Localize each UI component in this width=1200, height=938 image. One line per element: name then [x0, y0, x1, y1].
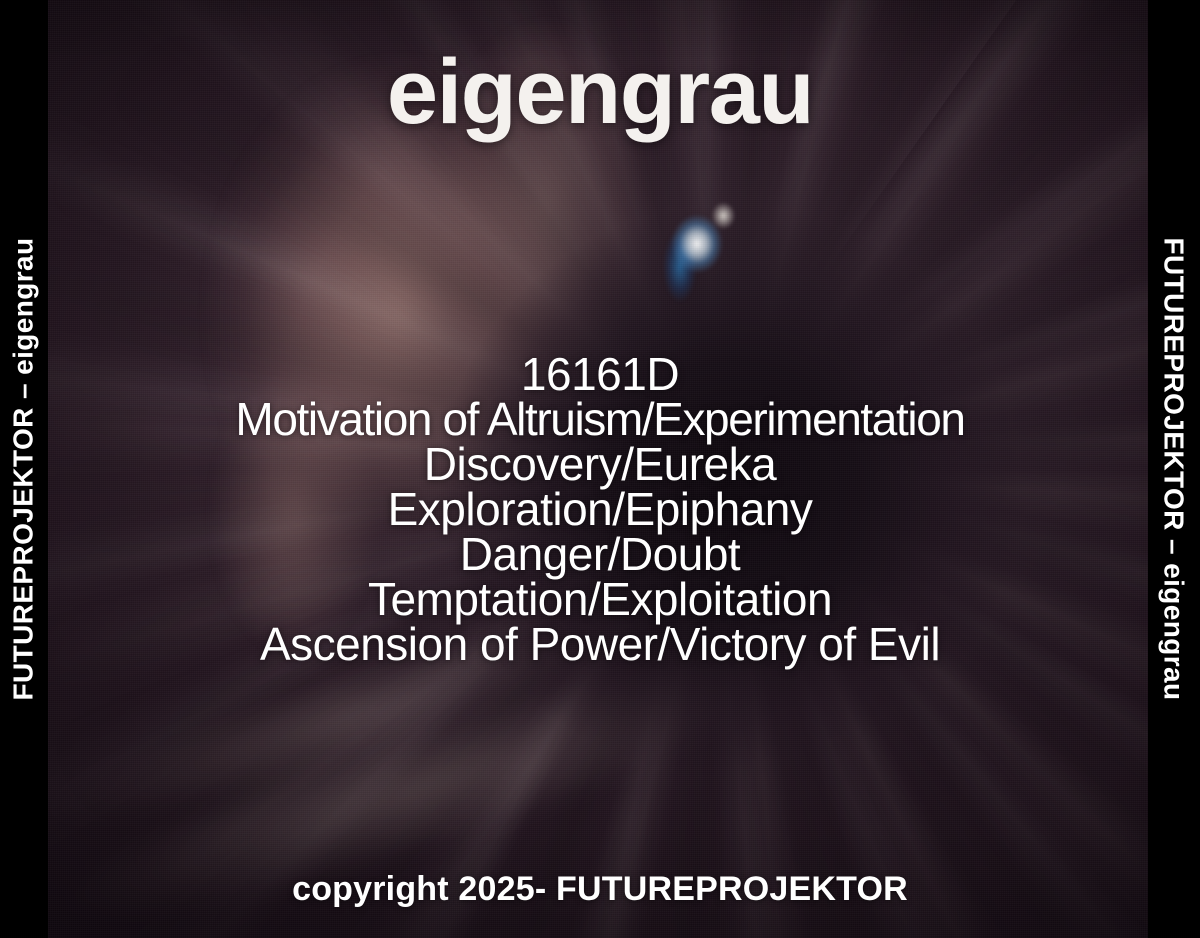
spine-left: FUTUREPROJEKTOR – eigengrau [0, 0, 48, 938]
album-cover: eigengrau 16161D Motivation of Altruism/… [0, 0, 1200, 938]
album-artwork [48, 0, 1148, 938]
artwork-grain [48, 0, 1148, 938]
spine-right-label: FUTUREPROJEKTOR – eigengrau [1160, 237, 1188, 700]
spine-left-label: FUTUREPROJEKTOR – eigengrau [10, 237, 38, 700]
spine-right: FUTUREPROJEKTOR – eigengrau [1148, 0, 1200, 938]
